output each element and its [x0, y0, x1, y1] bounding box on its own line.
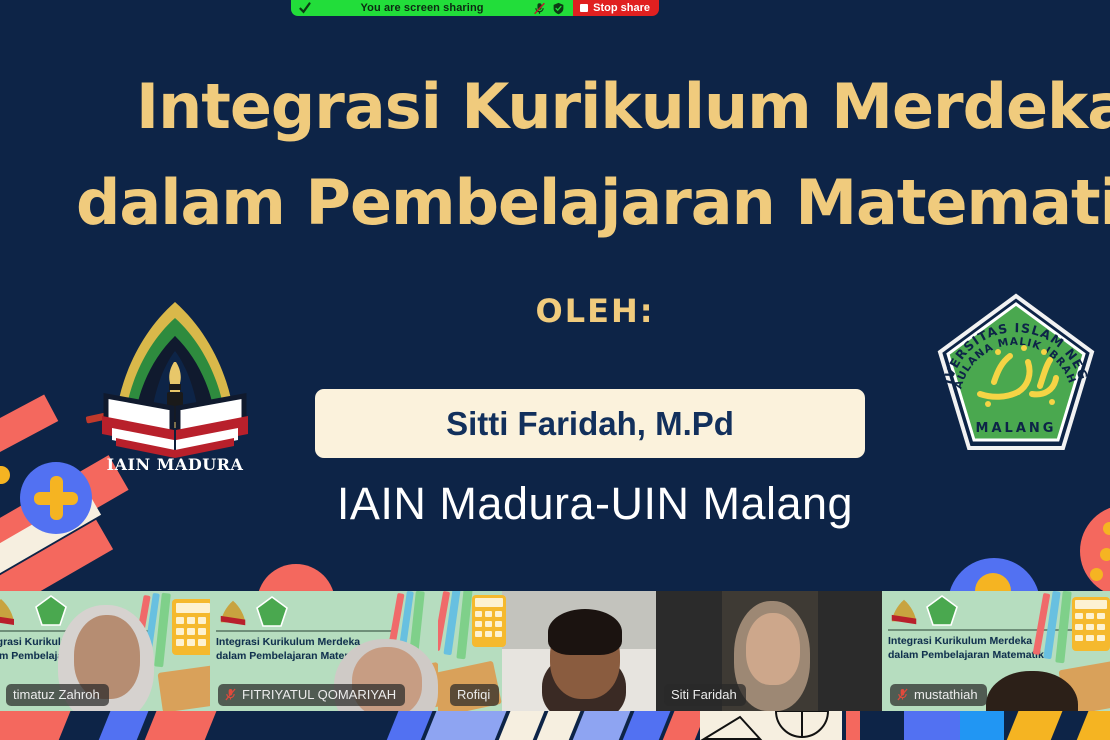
- affiliation-text: IAIN Madura-UIN Malang: [0, 478, 1110, 530]
- participant-name: mustathiah: [890, 684, 987, 706]
- iain-madura-logo: [216, 597, 250, 629]
- check-icon: [299, 2, 311, 14]
- lower-slide-sliver: [0, 711, 1110, 740]
- mic-muted-icon: [897, 688, 908, 701]
- salmon-bar-decoration: [0, 395, 58, 460]
- shield-icon[interactable]: [552, 2, 565, 15]
- presenter-name-box: Sitti Faridah, M.Pd: [315, 389, 865, 458]
- iain-madura-logo: [888, 596, 920, 628]
- participant-tile-active[interactable]: Siti Faridah: [656, 591, 882, 711]
- screen-share-toolbar[interactable]: You are screen sharing Stop share: [291, 0, 659, 16]
- salmon-half-circle-decoration: [257, 564, 335, 591]
- participant-tile[interactable]: Integrasi Kurikulum Merdekadalam Pembela…: [0, 591, 210, 711]
- participant-name: FITRIYATUL QOMARIYAH: [218, 684, 405, 706]
- participant-name: Siti Faridah: [664, 684, 746, 706]
- stop-share-button[interactable]: Stop share: [573, 0, 659, 16]
- share-status-area: You are screen sharing: [291, 0, 573, 16]
- iain-madura-logo: IAIN MADURA: [86, 288, 264, 476]
- geometry-diagram-icon: [700, 711, 842, 740]
- yellow-dot-decoration: [1090, 568, 1103, 581]
- slide-title: Integrasi Kurikulum Merdeka dalam Pembel…: [0, 74, 1110, 235]
- participant-name: timatuz Zahroh: [6, 684, 109, 706]
- share-status-label: You are screen sharing: [317, 2, 527, 14]
- participant-name: Rofiqi: [450, 684, 499, 706]
- mic-muted-icon[interactable]: [533, 2, 546, 15]
- slide-title-line-1: Integrasi Kurikulum Merdeka: [0, 74, 1110, 140]
- participant-tile[interactable]: Integrasi Kurikulum Merdekadalam Pembela…: [882, 591, 1110, 711]
- screen-share-window: Integrasi Kurikulum Merdeka dalam Pembel…: [0, 0, 1110, 740]
- svg-text:MALANG: MALANG: [976, 421, 1057, 436]
- iain-madura-logo: [0, 595, 18, 629]
- slide-title-line-2: dalam Pembelajaran Matematika: [0, 170, 1110, 236]
- participant-video-strip: Integrasi Kurikulum Merdekadalam Pembela…: [0, 591, 1110, 711]
- uin-malang-logo: UNIVERSITAS ISLAM NEGERI MAULANA MALIK I…: [932, 290, 1100, 462]
- uin-malang-logo: [34, 594, 68, 628]
- participant-tile[interactable]: Integrasi Kurikulum Merdekadalam Pembela…: [210, 591, 438, 711]
- uin-malang-logo: [254, 595, 290, 629]
- uin-malang-logo: [924, 594, 960, 628]
- svg-text:IAIN MADURA: IAIN MADURA: [107, 455, 244, 474]
- stop-square-icon: [580, 4, 588, 12]
- presenter-name: Sitti Faridah, M.Pd: [446, 405, 734, 443]
- stop-share-label: Stop share: [593, 2, 650, 14]
- shared-slide: Integrasi Kurikulum Merdeka dalam Pembel…: [0, 0, 1110, 591]
- yellow-dot-decoration: [1100, 548, 1110, 561]
- mic-muted-icon: [225, 688, 236, 701]
- participant-tile[interactable]: Rofiqi: [438, 591, 656, 711]
